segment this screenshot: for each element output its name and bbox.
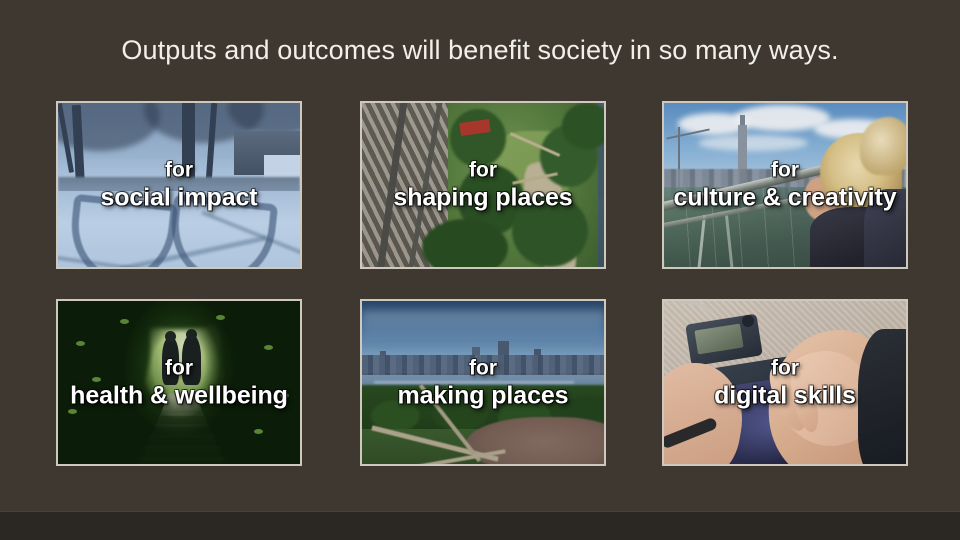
card-caption: for shaping places — [362, 158, 604, 213]
card-social-impact[interactable]: for social impact — [56, 101, 302, 269]
card-caption: for health & wellbeing — [58, 355, 300, 410]
caption-for-label: for — [366, 158, 600, 183]
card-caption: for culture & creativity — [664, 158, 906, 213]
card-digital-skills[interactable]: for digital skills — [662, 299, 908, 466]
card-caption: for digital skills — [664, 355, 906, 410]
caption-for-label: for — [62, 355, 296, 380]
caption-main-label: health & wellbeing — [62, 380, 296, 410]
presentation-slide: Outputs and outcomes will benefit societ… — [0, 0, 960, 540]
card-health-wellbeing[interactable]: for health & wellbeing — [56, 299, 302, 466]
caption-main-label: digital skills — [668, 380, 902, 410]
caption-for-label: for — [62, 158, 296, 183]
card-culture-creativity[interactable]: for culture & creativity — [662, 101, 908, 269]
card-shaping-places[interactable]: for shaping places — [360, 101, 606, 269]
slide-title: Outputs and outcomes will benefit societ… — [0, 33, 960, 67]
caption-main-label: social impact — [62, 183, 296, 213]
card-caption: for social impact — [58, 158, 300, 213]
caption-for-label: for — [366, 355, 600, 380]
caption-for-label: for — [668, 158, 902, 183]
slide-footer-bar — [0, 511, 960, 540]
caption-main-label: shaping places — [366, 183, 600, 213]
card-making-places[interactable]: for making places — [360, 299, 606, 466]
caption-for-label: for — [668, 355, 902, 380]
caption-main-label: culture & creativity — [668, 183, 902, 213]
card-caption: for making places — [362, 355, 604, 410]
caption-main-label: making places — [366, 380, 600, 410]
